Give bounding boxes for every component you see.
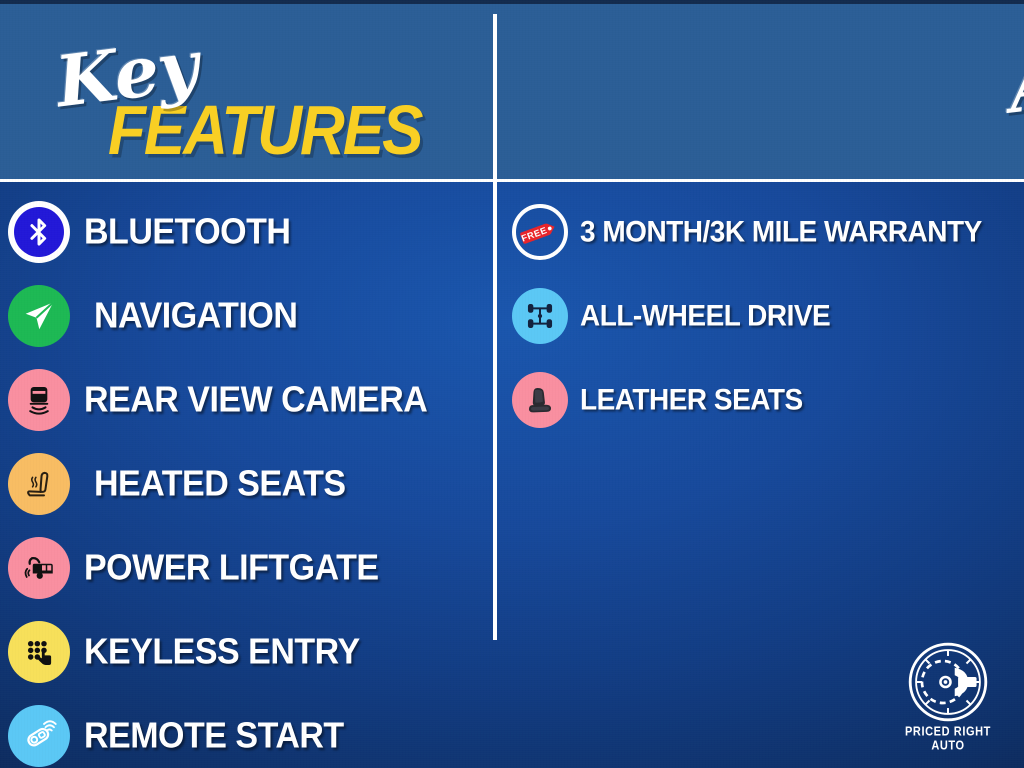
power-liftgate-icon [8,537,70,599]
navigation-arrow-icon [8,285,70,347]
list-item: ALL-WHEEL DRIVE [500,274,1024,358]
feature-label: REAR VIEW CAMERA [84,379,427,420]
column-divider [493,14,497,640]
rear-view-camera-icon [8,369,70,431]
list-item: NAVIGATION [0,274,490,358]
heated-seat-icon [8,453,70,515]
leather-seat-icon [512,372,568,428]
feature-label: BLUETOOTH [84,211,290,252]
added-script-word: Added [1004,18,1024,130]
header-key-features: Key FEATURES [0,0,490,182]
added-values-list: FREE 3 MONTH/3K MILE WARRANTY [500,190,1024,442]
list-item: FREE 3 MONTH/3K MILE WARRANTY [500,190,1024,274]
feature-label: LEATHER SEATS [580,383,803,417]
feature-label: KEYLESS ENTRY [84,631,360,672]
keypad-hand-icon [8,621,70,683]
key-fob-icon [8,705,70,767]
list-item: HEATED SEATS [0,442,490,526]
gear-wrench-emblem [906,640,990,724]
feature-label: REMOTE START [84,715,344,756]
feature-graphic: Key FEATURES Added VALUES BLUETOOTH [0,0,1024,768]
list-item: REAR VIEW CAMERA [0,358,490,442]
key-features-list: BLUETOOTH NAVIGATION [0,190,490,768]
feature-label: HEATED SEATS [94,463,346,504]
svg-text:FREE: FREE [520,225,548,244]
feature-label: 3 MONTH/3K MILE WARRANTY [580,215,982,249]
free-tag-icon: FREE [512,204,568,260]
feature-label: NAVIGATION [94,295,297,336]
feature-label: ALL-WHEEL DRIVE [580,299,830,333]
bluetooth-icon [8,201,70,263]
header-added-values: Added VALUES [500,0,1024,182]
list-item: POWER LIFTGATE [0,526,490,610]
all-wheel-drive-icon [512,288,568,344]
list-item: BLUETOOTH [0,190,490,274]
list-item: KEYLESS ENTRY [0,610,490,694]
header-band: Key FEATURES Added VALUES [0,0,1024,182]
brand-name: PRICED RIGHT AUTO [892,725,1004,753]
feature-label: POWER LIFTGATE [84,547,379,588]
list-item: REMOTE START [0,694,490,768]
list-item: LEATHER SEATS [500,358,1024,442]
brand-logo: PRICED RIGHT AUTO [892,640,1004,751]
key-script-word: Key [51,24,202,124]
